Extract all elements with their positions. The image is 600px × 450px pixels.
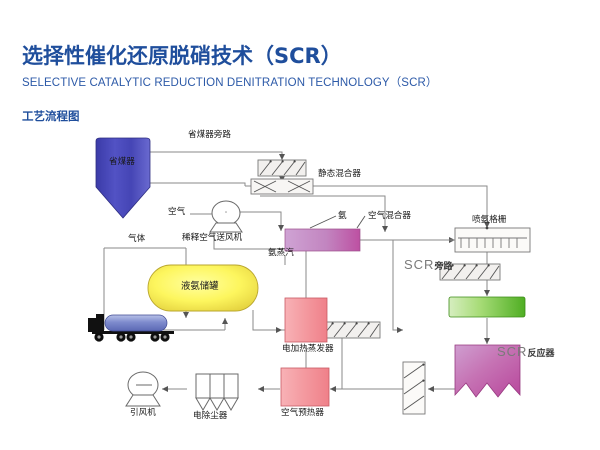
label-ammonia-vapor: 氨蒸汽 [268,249,294,258]
label-scr-bypass: SCR旁路 [404,258,452,272]
pipe-static-mixer-to-aig [313,186,487,228]
slide-root: 选择性催化还原脱硝技术（SCR） SELECTIVE CATALYTIC RED… [0,0,600,450]
label-dilution-air-blower: 稀释空气送风机 [182,234,242,243]
label-electric-heating-evaporator: 电加热蒸发器 [282,345,334,354]
electrostatic-precipitator [196,374,238,410]
label-gas: 气体 [128,235,145,244]
economizer-vessel [96,138,150,218]
bypass-flow-damper [320,322,380,338]
air-preheater [281,368,329,406]
pipe-tank-to-evaporator [253,310,285,330]
label-economizer: 省煤器 [109,158,135,167]
catalyst-layer [449,297,525,317]
label-scr-reactor: SCR反应器 [497,345,554,359]
pipe-fan-out [240,212,281,226]
label-economizer-bypass: 省煤器旁路 [188,131,231,140]
induced-draft-fan [126,372,160,406]
dilution-air-blower [210,201,242,232]
label-static-mixer: 静态混合器 [318,170,361,179]
label-induced-draft-fan: 引风机 [130,409,156,418]
ammonia-tanker-truck [88,314,174,342]
label-air-preheater: 空气预热器 [281,409,324,418]
label-liquid-ammonia-tank: 液氨储罐 [181,282,219,291]
label-scr-bypass-en: SCR [404,257,434,272]
label-electrostatic-precipitator: 电除尘器 [193,412,227,421]
label-scr-reactor-cn: 反应器 [527,349,554,359]
label-ammonia: 氨 [338,212,347,221]
reactor-outlet-damper [403,362,425,414]
pipe-economizer-outlet [150,183,245,186]
label-scr-bypass-cn: 旁路 [434,262,452,272]
economizer-bypass-damper [258,160,306,176]
pipe-scr-bypass [393,240,455,330]
static-mixer-unit [251,179,313,194]
pipe-economizer-bypass [150,152,282,160]
label-air-mixer: 空气混合器 [368,212,411,221]
ammonia-air-mixer [285,216,365,251]
process-flow-diagram [0,0,600,450]
electric-heating-evaporator [285,298,327,342]
label-scr-reactor-en: SCR [497,344,527,359]
ammonia-injection-grid [455,227,530,252]
label-air: 空气 [168,208,185,217]
label-ammonia-injection-grid: 喷氨格栅 [472,216,506,225]
